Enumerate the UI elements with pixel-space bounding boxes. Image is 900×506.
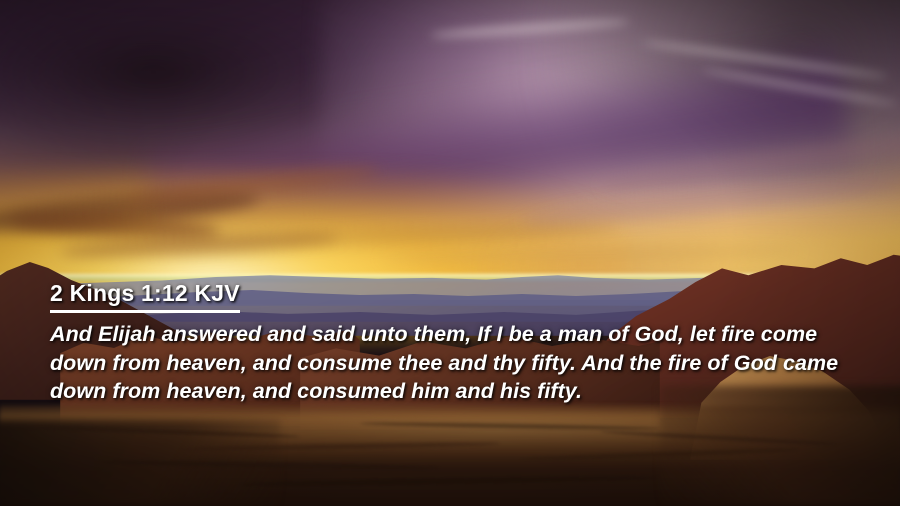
verse-overlay: 2 Kings 1:12 KJV And Elijah answered and… bbox=[50, 280, 860, 406]
wallpaper-image: 2 Kings 1:12 KJV And Elijah answered and… bbox=[0, 0, 900, 506]
verse-reference: 2 Kings 1:12 KJV bbox=[50, 280, 240, 313]
verse-text: And Elijah answered and said unto them, … bbox=[50, 320, 860, 406]
sky-region bbox=[0, 0, 900, 300]
